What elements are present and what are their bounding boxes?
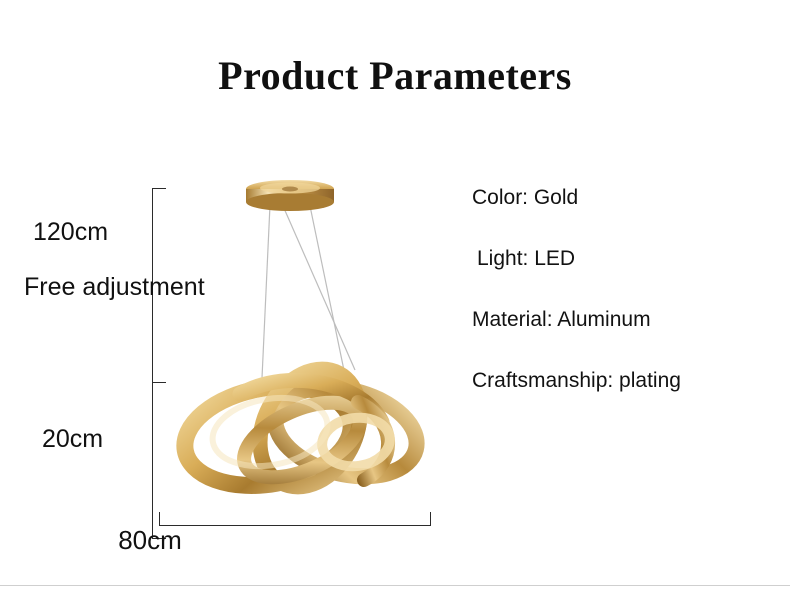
bottom-divider [0, 585, 790, 586]
spec-color: Color: Gold [472, 186, 772, 210]
shade-height-dimension-label: 20cm [42, 425, 103, 454]
product-spec-list: Color: Gold Light: LED Material: Aluminu… [472, 186, 772, 430]
spec-craftsmanship: Craftsmanship: plating [472, 369, 772, 393]
spec-light: Light: LED [472, 247, 772, 271]
height-dimension-label: 120cm [33, 218, 108, 247]
page-title: Product Parameters [0, 52, 790, 99]
suspension-cords [262, 205, 355, 380]
product-dimension-diagram: 120cm Free adjustment 20cm 80cm [0, 150, 460, 570]
gold-pendant-lamp-illustration [150, 170, 450, 530]
ceiling-mount-plate [246, 180, 334, 211]
spec-material: Material: Aluminum [472, 308, 772, 332]
lamp-rings [177, 352, 426, 505]
